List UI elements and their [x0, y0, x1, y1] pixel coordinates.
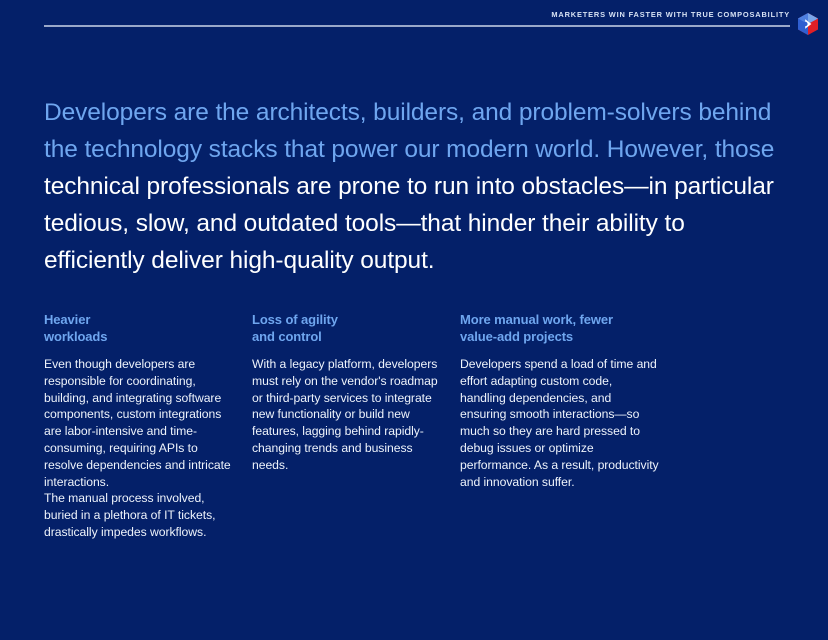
slide-header: MARKETERS WIN FASTER WITH TRUE COMPOSABI… [0, 0, 828, 44]
column-heavier-workloads: Heavier workloads Even though developers… [44, 312, 234, 541]
column-body: Developers spend a load of time and effo… [460, 356, 660, 490]
column-body: With a legacy platform, developers must … [252, 356, 438, 474]
column-title: Heavier workloads [44, 312, 234, 345]
header-kicker-text: MARKETERS WIN FASTER WITH TRUE COMPOSABI… [551, 10, 790, 19]
column-body: Even though developers are responsible f… [44, 356, 234, 541]
column-title: Loss of agility and control [252, 312, 438, 345]
header-divider-rule [44, 25, 790, 27]
column-loss-of-agility: Loss of agility and control With a legac… [252, 312, 438, 541]
headline-white-text: technical professionals are prone to run… [44, 173, 774, 274]
column-title: More manual work, fewer value-add projec… [460, 312, 660, 345]
headline-accent-text: Developers are the architects, builders,… [44, 99, 774, 163]
supporting-columns: Heavier workloads Even though developers… [44, 312, 788, 541]
headline: Developers are the architects, builders,… [44, 94, 784, 279]
column-more-manual-work: More manual work, fewer value-add projec… [460, 312, 660, 541]
slide-root: MARKETERS WIN FASTER WITH TRUE COMPOSABI… [0, 0, 828, 640]
brand-hexagon-logo [796, 12, 820, 36]
